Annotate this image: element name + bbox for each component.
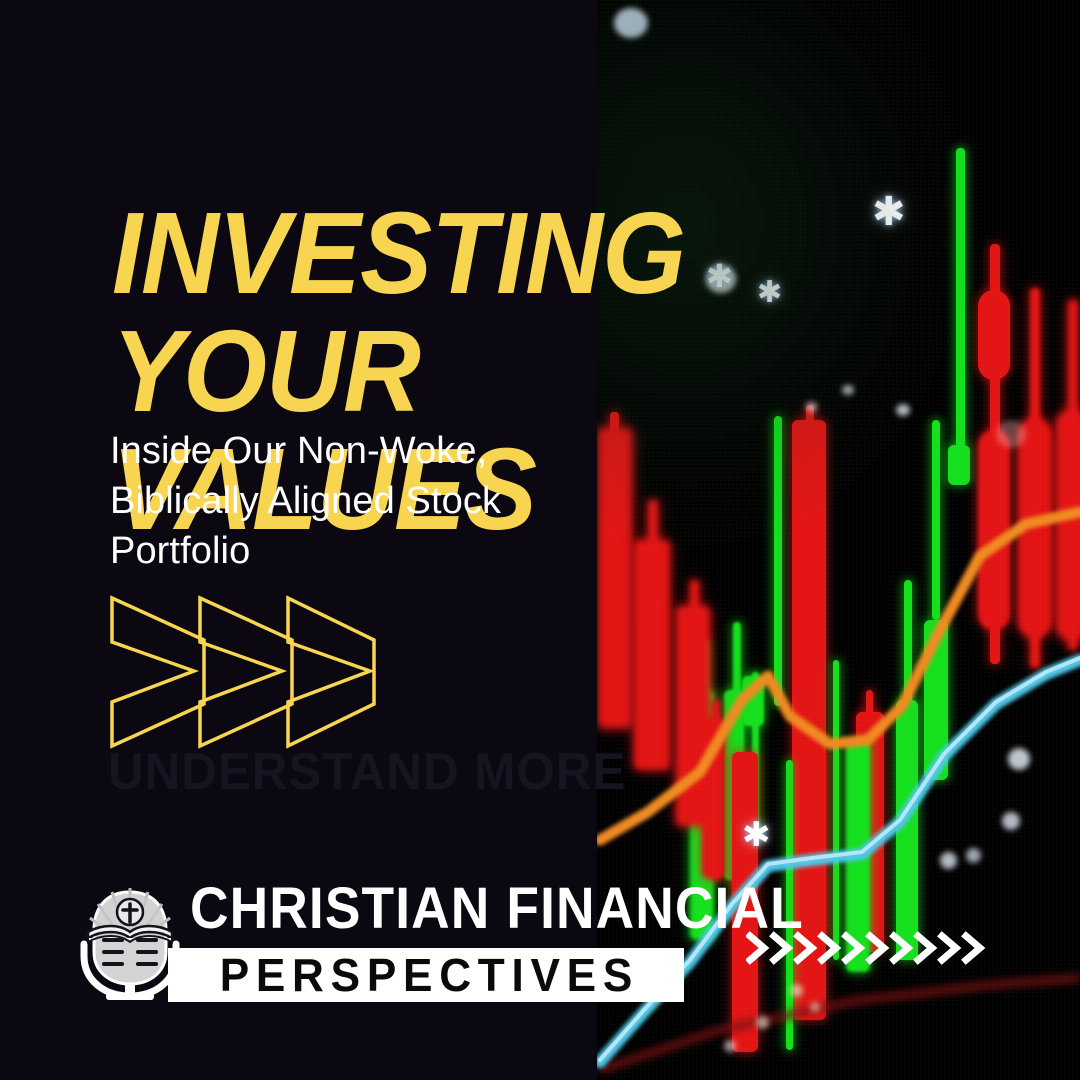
logo-line-top: CHRISTIAN FINANCIAL bbox=[190, 880, 804, 938]
logo-line-bottom: PERSPECTIVES bbox=[178, 948, 673, 1002]
brand-logo: CHRISTIAN FINANCIAL PERSPECTIVES bbox=[78, 876, 618, 1002]
logo-white-bar: PERSPECTIVES bbox=[168, 948, 684, 1002]
microphone-bible-cross-icon bbox=[78, 878, 182, 1000]
yellow-chevron-group bbox=[108, 592, 378, 757]
chevron-right-outline-icon bbox=[108, 592, 378, 752]
social-graphic-canvas: ✱ ✱ ✱ ✱ bbox=[0, 0, 1080, 1080]
subtitle: Inside Our Non-Woke, Biblically Aligned … bbox=[110, 426, 580, 576]
